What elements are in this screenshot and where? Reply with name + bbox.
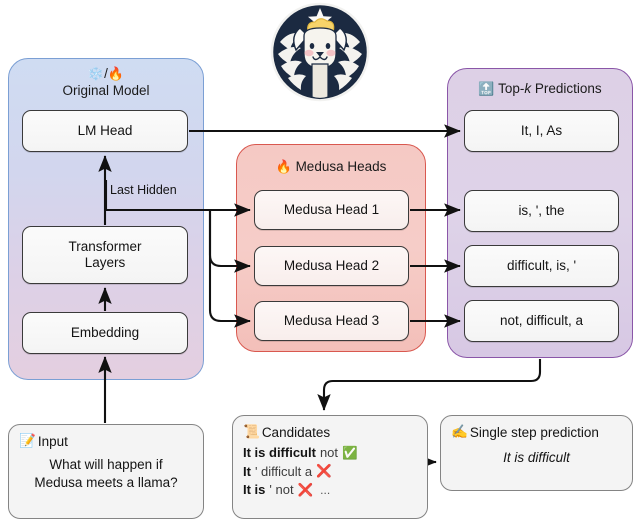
node-prediction-head-1-label: is, ', the	[518, 203, 564, 219]
node-medusa-head-3-label: Medusa Head 3	[284, 313, 379, 329]
transformer-line-2: Layers	[85, 255, 126, 270]
memo-icon: 📝	[19, 433, 36, 449]
candidate-rest: ' not	[269, 481, 293, 499]
node-transformer-layers-label: Transformer Layers	[68, 239, 141, 271]
node-medusa-head-2-label: Medusa Head 2	[284, 258, 379, 274]
card-single-step-header: ✍️ Single step prediction	[451, 424, 622, 440]
node-transformer-layers[interactable]: Transformer Layers	[22, 226, 188, 284]
candidate-ellipsis: ...	[320, 482, 330, 498]
top-arrow-icon: 🔝	[478, 81, 494, 96]
panel-original-model-title: ❄️/🔥 Original Model	[9, 66, 203, 98]
arrow-topk-to-candidates	[324, 359, 540, 410]
writing-hand-icon: ✍️	[451, 424, 468, 440]
candidate-list: It is difficult not ✅ It ' difficult a ❌…	[243, 444, 417, 499]
accepted-check-icon: ✅	[342, 447, 358, 460]
card-candidates-title: Candidates	[262, 425, 330, 440]
candidate-accepted-prefix: It is difficult	[243, 444, 316, 462]
panel-original-model-label: Original Model	[9, 83, 203, 99]
candidate-rest: not	[320, 444, 338, 462]
card-single-step-prediction[interactable]: ✍️ Single step prediction It is difficul…	[440, 415, 633, 491]
candidate-row: It ' difficult a ❌	[243, 463, 417, 481]
transformer-line-1: Transformer	[68, 239, 141, 254]
card-input-title: Input	[38, 434, 68, 449]
topk-title-prefix: Top-	[498, 81, 524, 96]
rejected-cross-icon: ❌	[298, 484, 314, 497]
panel-medusa-heads-title: 🔥 Medusa Heads	[237, 159, 425, 175]
topk-title-suffix: Predictions	[531, 81, 602, 96]
node-prediction-head-3-label: not, difficult, a	[500, 313, 583, 329]
node-prediction-head-3[interactable]: not, difficult, a	[464, 300, 619, 342]
candidate-row: It is difficult not ✅	[243, 444, 417, 462]
node-prediction-head-2-label: difficult, is, '	[507, 258, 576, 274]
card-input-text-line-1: What will happen if	[49, 457, 162, 472]
panel-medusa-heads-label: Medusa Heads	[296, 159, 387, 174]
node-prediction-lm-head-label: It, I, As	[521, 123, 562, 139]
card-input-header: 📝 Input	[19, 433, 193, 449]
node-prediction-head-1[interactable]: is, ', the	[464, 190, 619, 232]
candidate-accepted-prefix: It is	[243, 481, 265, 499]
snowflake-icon: ❄️	[88, 66, 104, 81]
node-medusa-head-2[interactable]: Medusa Head 2	[254, 246, 409, 286]
scroll-icon: 📜	[243, 424, 260, 440]
panel-topk-predictions-title: 🔝 Top-k Predictions	[448, 81, 632, 97]
node-medusa-head-1[interactable]: Medusa Head 1	[254, 190, 409, 230]
card-single-step-text: It is difficult	[451, 450, 622, 465]
node-embedding[interactable]: Embedding	[22, 312, 188, 354]
node-medusa-head-1-label: Medusa Head 1	[284, 202, 379, 218]
node-prediction-head-2[interactable]: difficult, is, '	[464, 245, 619, 287]
node-lm-head-label: LM Head	[78, 123, 133, 139]
card-input-text-line-2: Medusa meets a llama?	[34, 475, 177, 490]
diagram-canvas: ❄️/🔥 Original Model 🔥 Medusa Heads 🔝 Top…	[0, 0, 640, 525]
card-candidates-header: 📜 Candidates	[243, 424, 417, 440]
llama-starbucks-logo	[270, 2, 370, 102]
card-input-text: What will happen if Medusa meets a llama…	[19, 456, 193, 492]
fire-icon: 🔥	[276, 159, 292, 174]
node-medusa-head-3[interactable]: Medusa Head 3	[254, 301, 409, 341]
rejected-cross-icon: ❌	[316, 465, 332, 478]
candidate-accepted-prefix: It	[243, 463, 251, 481]
node-lm-head[interactable]: LM Head	[22, 110, 188, 152]
card-single-step-title: Single step prediction	[470, 425, 599, 440]
edge-label-last-hidden: Last Hidden	[110, 183, 177, 197]
candidate-rest: ' difficult a	[255, 463, 312, 481]
card-input[interactable]: 📝 Input What will happen if Medusa meets…	[8, 424, 204, 519]
fire-icon: 🔥	[108, 66, 124, 81]
candidate-row: It is ' not ❌ ...	[243, 481, 417, 499]
node-embedding-label: Embedding	[71, 325, 139, 341]
card-candidates[interactable]: 📜 Candidates It is difficult not ✅ It ' …	[232, 415, 428, 519]
node-prediction-lm-head[interactable]: It, I, As	[464, 110, 619, 152]
